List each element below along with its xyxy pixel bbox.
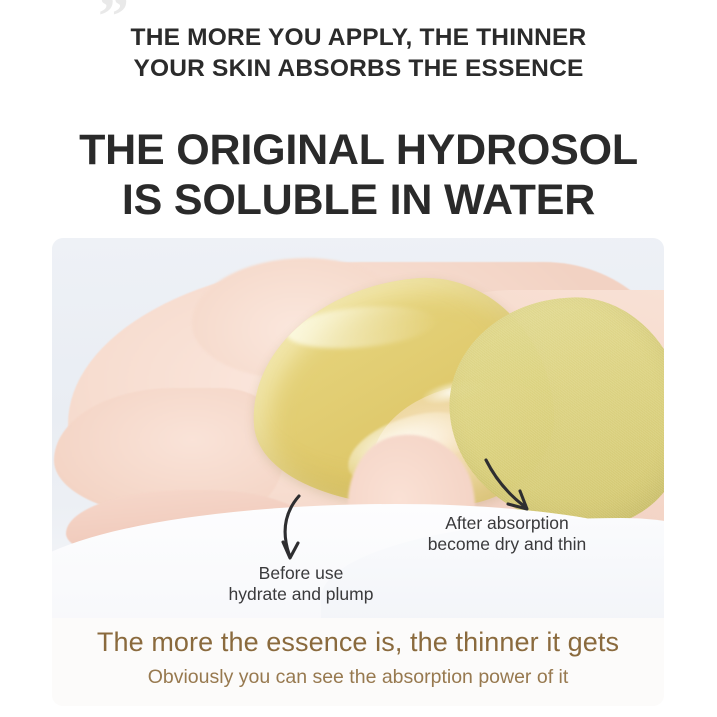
annotation-before-use: Before use hydrate and plump <box>206 563 396 606</box>
page-title: THE ORIGINAL HYDROSOL IS SOLUBLE IN WATE… <box>0 125 717 226</box>
annotation-after-absorption: After absorption become dry and thin <box>392 513 622 556</box>
caption-sub-text: Obviously you can see the absorption pow… <box>52 666 664 689</box>
headline-line-2: IS SOLUBLE IN WATER <box>0 175 717 225</box>
eyebrow-text: THE MORE YOU APPLY, THE THINNER YOUR SKI… <box>0 22 717 85</box>
headline-line-1: THE ORIGINAL HYDROSOL <box>0 125 717 175</box>
annotation-after-absorption-line-1: After absorption <box>392 513 622 534</box>
annotation-after-absorption-line-2: become dry and thin <box>392 534 622 555</box>
eyebrow-line-1: THE MORE YOU APPLY, THE THINNER <box>0 22 717 53</box>
demonstration-card: Before use hydrate and plump After absor… <box>52 238 664 706</box>
caption-main-text: The more the essence is, the thinner it … <box>52 627 664 658</box>
annotation-before-use-line-1: Before use <box>206 563 396 584</box>
caption-block: The more the essence is, the thinner it … <box>52 618 664 706</box>
eyebrow-line-2: YOUR SKIN ABSORBS THE ESSENCE <box>0 53 717 84</box>
hand-demo-photo: Before use hydrate and plump After absor… <box>52 238 664 618</box>
annotation-before-use-line-2: hydrate and plump <box>206 584 396 605</box>
